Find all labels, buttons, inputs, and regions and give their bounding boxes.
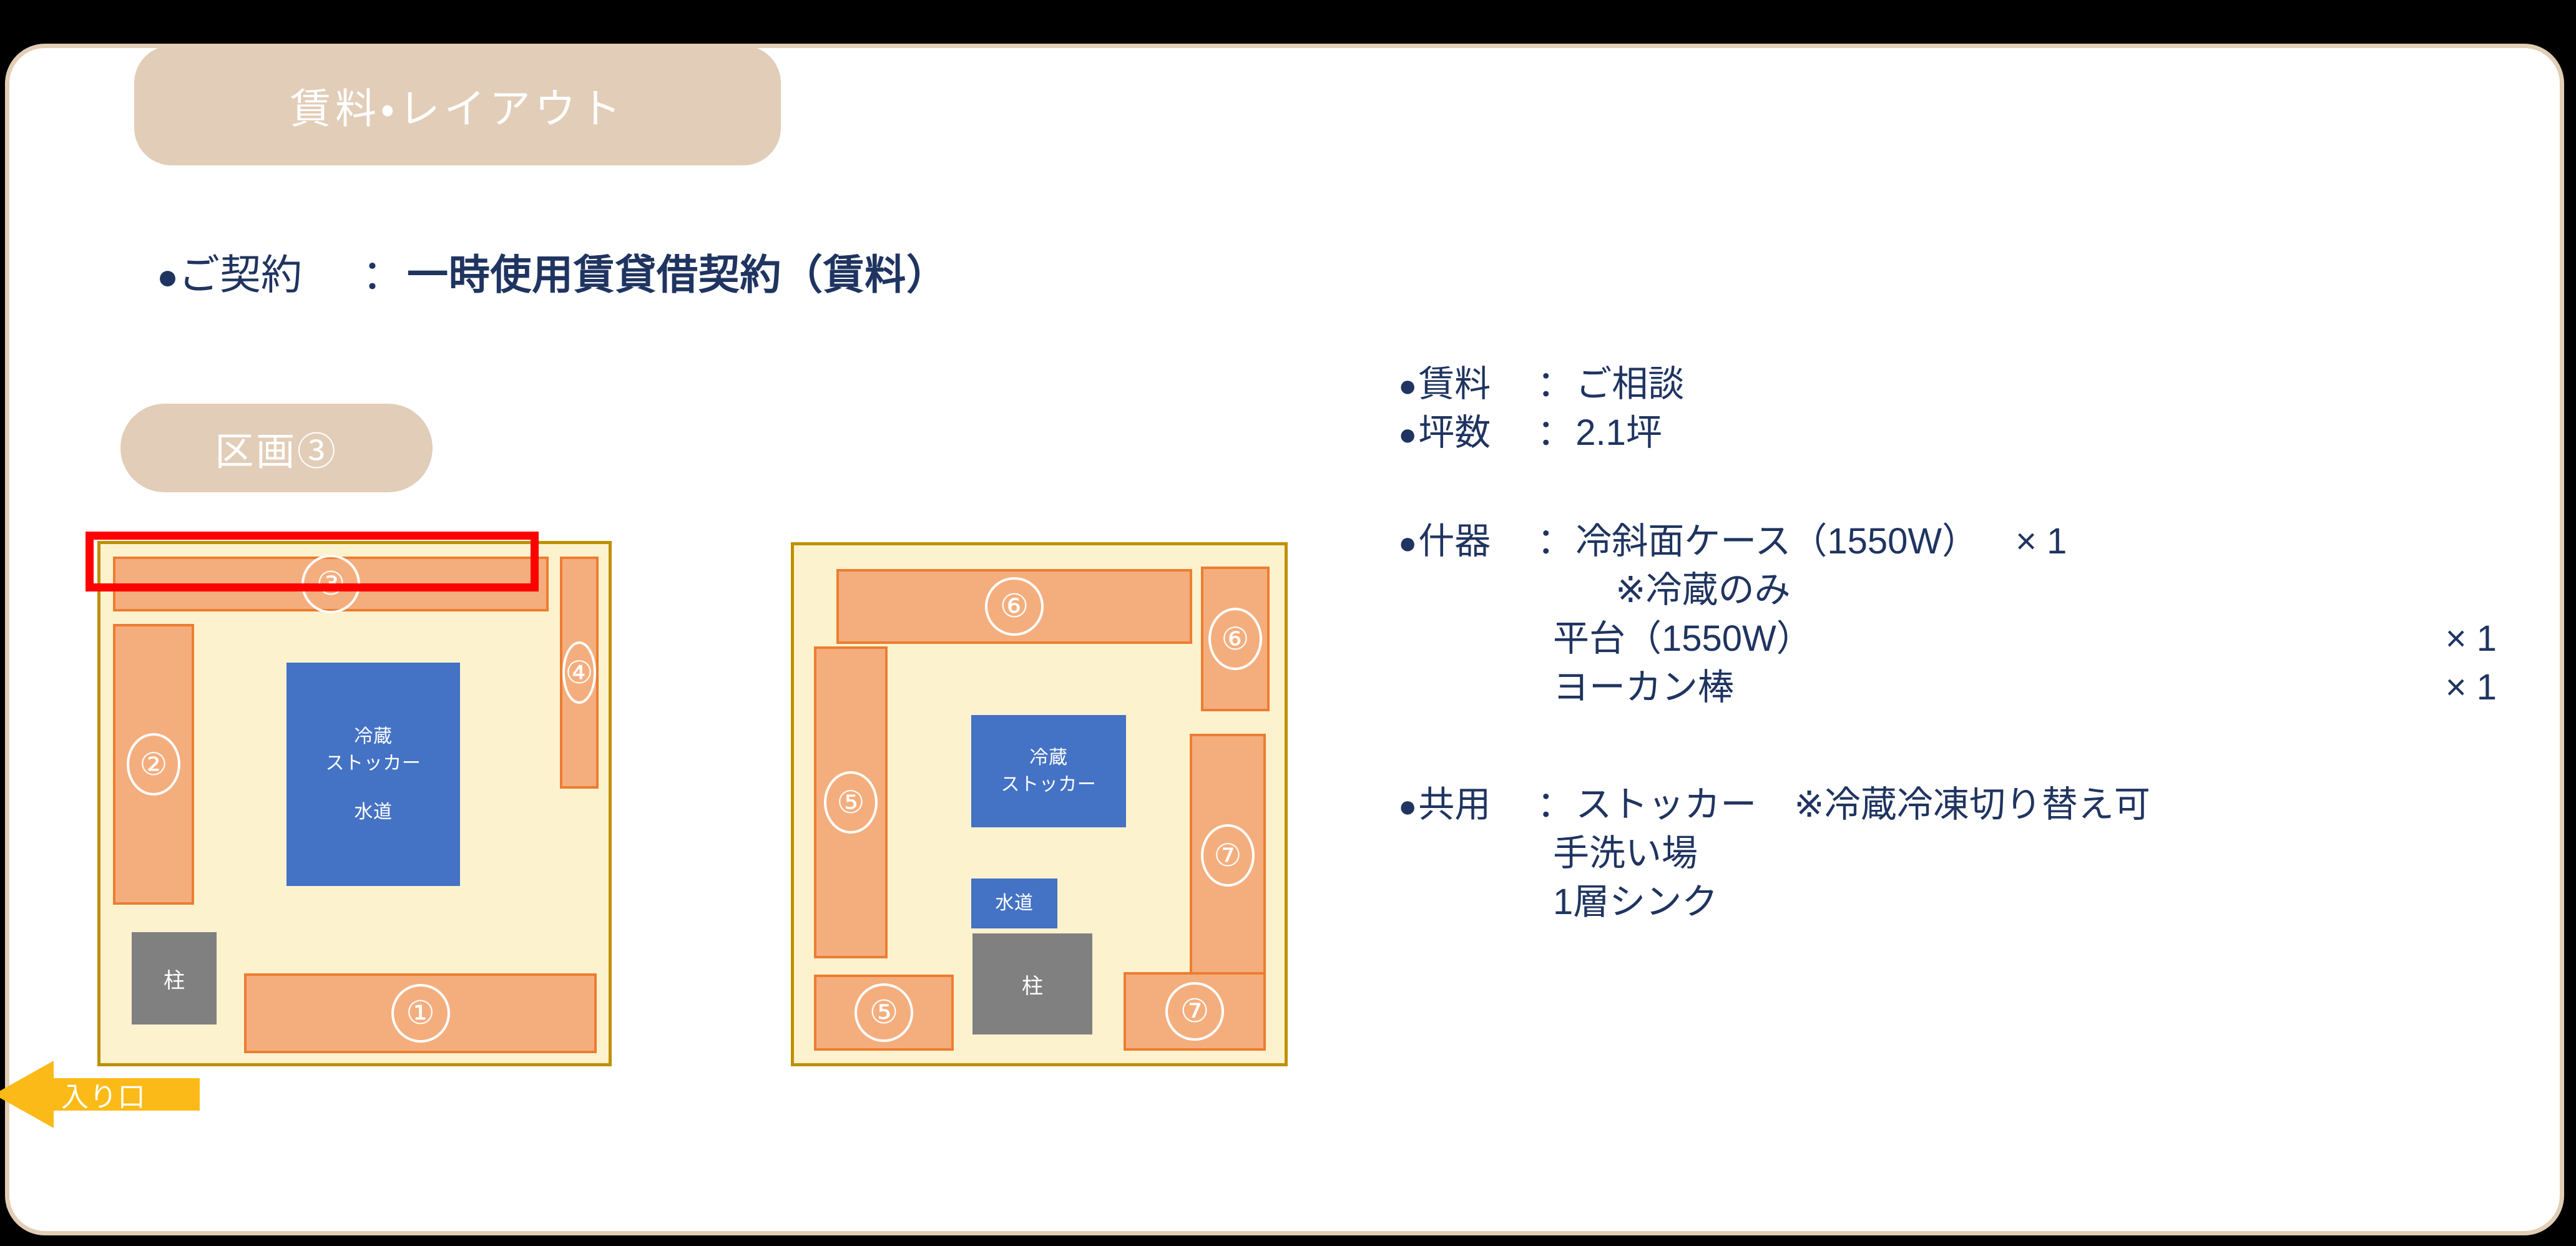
unit-number-7-right: ⑦ <box>1201 824 1255 887</box>
water-label-right: 水道 <box>995 890 1033 917</box>
shared-colon: ： <box>1537 787 1573 823</box>
stocker-box-left: 冷蔵 ストッカー 水道 <box>286 663 460 886</box>
shared-item-2: 1層シンク <box>1553 884 1718 920</box>
bullet-icon: ● <box>1398 791 1417 822</box>
unit-number-1: ① <box>391 984 450 1043</box>
unit-block-6-top[interactable]: ⑥ <box>836 569 1192 644</box>
fixture-item-1-name: 平台（1550W） <box>1553 621 1813 657</box>
water-box-right: 水道 <box>971 879 1057 928</box>
fixture-item-2-qty: × 1 <box>2408 669 2497 706</box>
bullet-icon: ● <box>1398 419 1417 450</box>
unit-block-5-left[interactable]: ⑤ <box>814 646 888 958</box>
unit-block-2[interactable]: ② <box>113 624 194 905</box>
stocker-label-line1: 冷蔵 <box>354 723 392 751</box>
unit-number-5-left: ⑤ <box>824 771 878 834</box>
fixtures-colon: ： <box>1537 523 1573 560</box>
pillar-box-left: 柱 <box>132 932 217 1025</box>
rent-value: ご相談 <box>1575 366 1684 402</box>
unit-block-7-right[interactable]: ⑦ <box>1190 734 1266 977</box>
contract-value: 一時使用賃貸借契約（賃料） <box>407 241 948 301</box>
stocker-box-right: 冷蔵 ストッカー <box>971 715 1126 827</box>
contract-heading: ● ご契約 ： 一時使用賃貸借契約（賃料） <box>157 241 948 301</box>
shared-item-2-row: 1層シンク <box>1398 884 2497 933</box>
water-label-left: 水道 <box>354 799 392 826</box>
unit-number-4: ④ <box>562 641 596 704</box>
bullet-icon: ● <box>1398 370 1417 401</box>
floorplan-left: ③ ④ ② ① 冷蔵 ストッカー 水道 柱 <box>97 541 612 1066</box>
section-header-tab: 賃料・レイアウト <box>134 46 781 165</box>
unit-block-6-right[interactable]: ⑥ <box>1201 567 1270 711</box>
pillar-box-right: 柱 <box>972 933 1092 1034</box>
tsubo-colon: ： <box>1537 415 1573 451</box>
content-card: 賃料・レイアウト ● ご契約 ： 一時使用賃貸借契約（賃料） 区画③ ③ ④ ②… <box>5 44 2564 1235</box>
fixture-item-1: 平台（1550W） × 1 <box>1398 621 2497 669</box>
shared-note: ※冷蔵冷凍切り替え可 <box>1794 787 2150 823</box>
shared-item-1: 手洗い場 <box>1553 835 1698 872</box>
unit-block-5-bottom[interactable]: ⑤ <box>814 975 954 1051</box>
shared-item-1-row: 手洗い場 <box>1398 835 2497 884</box>
info-row-rent: ● 賃料 ： ご相談 <box>1398 366 2497 415</box>
fixture-item-2-name: ヨーカン棒 <box>1553 669 1734 706</box>
tsubo-key: 坪数 <box>1418 415 1537 451</box>
rent-key: 賃料 <box>1418 366 1537 402</box>
unit-block-4[interactable]: ④ <box>560 557 599 789</box>
info-panel: ● 賃料 ： ご相談 ● 坪数 ： 2.1坪 ● 什器 ： 冷斜面ケース（155… <box>1398 366 2497 933</box>
fixtures-key: 什器 <box>1418 523 1537 560</box>
bullet-icon: ● <box>1398 527 1417 558</box>
spacer <box>1398 464 2497 523</box>
spacer <box>1398 718 2497 787</box>
shared-key: 共用 <box>1418 787 1537 823</box>
stocker-label-line1-right: 冷蔵 <box>1029 744 1067 772</box>
fixture-item-0-qty: × 1 <box>2015 523 2067 560</box>
zone-badge: 区画③ <box>120 404 433 492</box>
contract-colon: ： <box>362 241 403 301</box>
unit-number-6-top: ⑥ <box>985 577 1044 636</box>
unit-number-2: ② <box>127 733 180 796</box>
pillar-label-left: 柱 <box>164 963 185 994</box>
fixture-item-0-name: 冷斜面ケース（1550W） <box>1575 523 1978 560</box>
highlight-rect-unit-3 <box>86 532 539 591</box>
shared-item-0: ストッカー <box>1575 787 1756 823</box>
unit-number-5-bottom: ⑤ <box>855 983 913 1042</box>
section-title: 賃料・レイアウト <box>290 75 625 135</box>
unit-number-6-right: ⑥ <box>1208 608 1262 670</box>
info-row-shared: ● 共用 ： ストッカー ※冷蔵冷凍切り替え可 <box>1398 787 2497 835</box>
fixtures-note: ※冷蔵のみ <box>1398 572 2497 621</box>
unit-number-7-bottom: ⑦ <box>1165 982 1224 1041</box>
info-row-fixtures: ● 什器 ： 冷斜面ケース（1550W） × 1 <box>1398 523 2497 572</box>
stocker-label-line2-right: ストッカー <box>1001 771 1097 799</box>
unit-block-7-bottom[interactable]: ⑦ <box>1124 972 1266 1051</box>
bullet-icon: ● <box>157 259 179 295</box>
info-row-tsubo: ● 坪数 ： 2.1坪 <box>1398 415 2497 464</box>
stocker-label-line2: ストッカー <box>326 750 421 777</box>
zone-badge-label: 区画③ <box>215 420 338 476</box>
rent-colon: ： <box>1537 366 1573 402</box>
unit-block-1[interactable]: ① <box>244 973 597 1053</box>
fixture-item-1-qty: × 1 <box>2408 621 2497 657</box>
entrance-label: 入り口 <box>61 1061 146 1128</box>
pillar-label-right: 柱 <box>1022 969 1043 1000</box>
entrance-arrow: 入り口 <box>0 1061 200 1128</box>
fixture-item-2: ヨーカン棒 × 1 <box>1398 669 2497 718</box>
tsubo-value: 2.1坪 <box>1575 415 1662 451</box>
floorplan-right: ⑥ ⑥ ⑤ ⑤ ⑦ ⑦ 冷蔵 ストッカー 水道 柱 <box>791 542 1288 1066</box>
contract-label: ご契約 <box>179 241 302 301</box>
